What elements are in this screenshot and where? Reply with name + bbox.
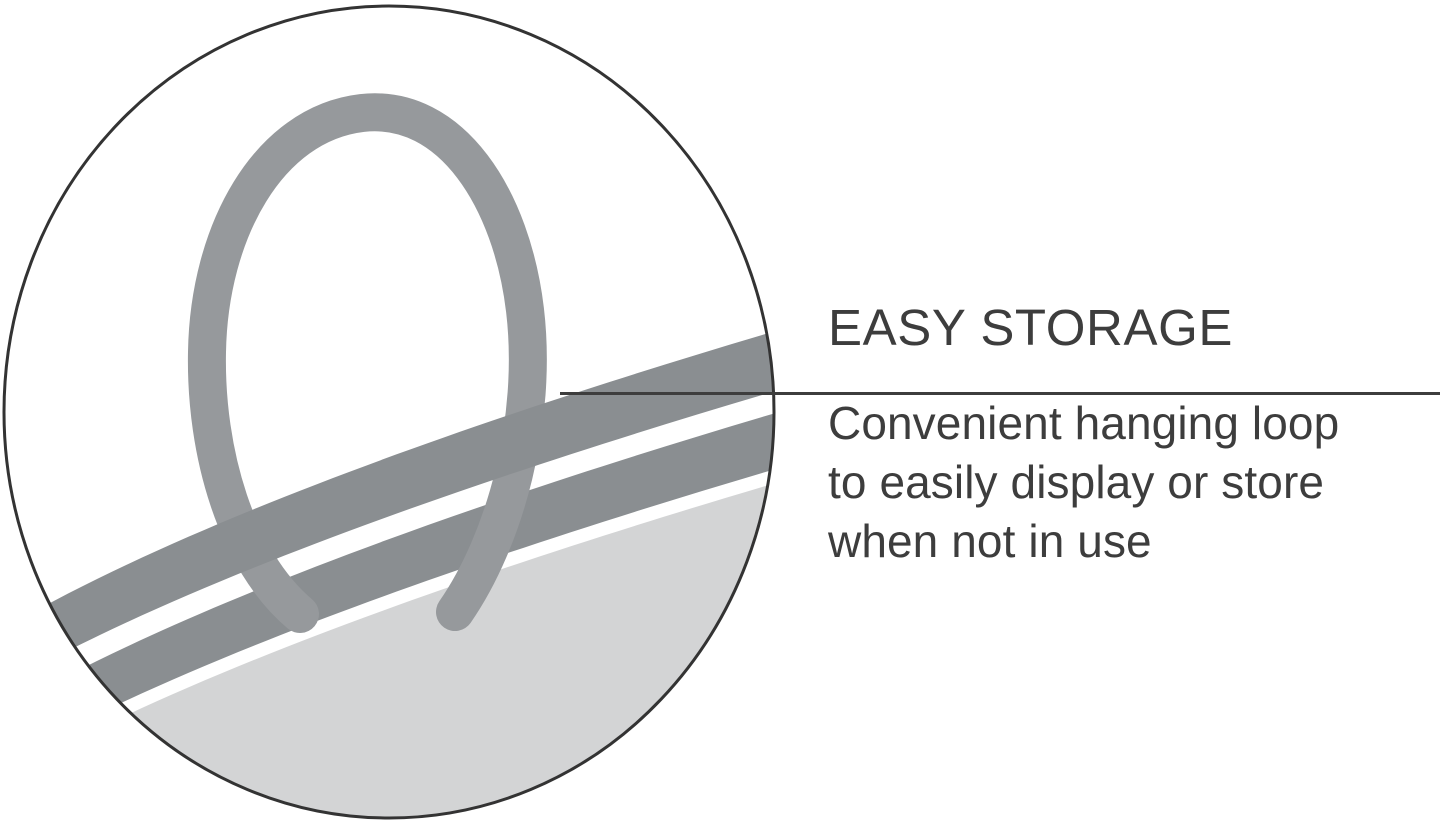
feature-callout-page: EASY STORAGE Convenient hanging loop to … <box>0 0 1445 840</box>
circle-contents <box>0 0 800 840</box>
callout-description-line-3: when not in use <box>828 512 1428 571</box>
hanging-loop-illustration <box>0 0 800 840</box>
callout-title: EASY STORAGE <box>828 300 1428 368</box>
callout-text-block: EASY STORAGE Convenient hanging loop to … <box>828 300 1428 571</box>
callout-description-line-1: Convenient hanging loop <box>828 394 1428 453</box>
callout-description-line-2: to easily display or store <box>828 453 1428 512</box>
callout-description: Convenient hanging loop to easily displa… <box>828 368 1428 571</box>
